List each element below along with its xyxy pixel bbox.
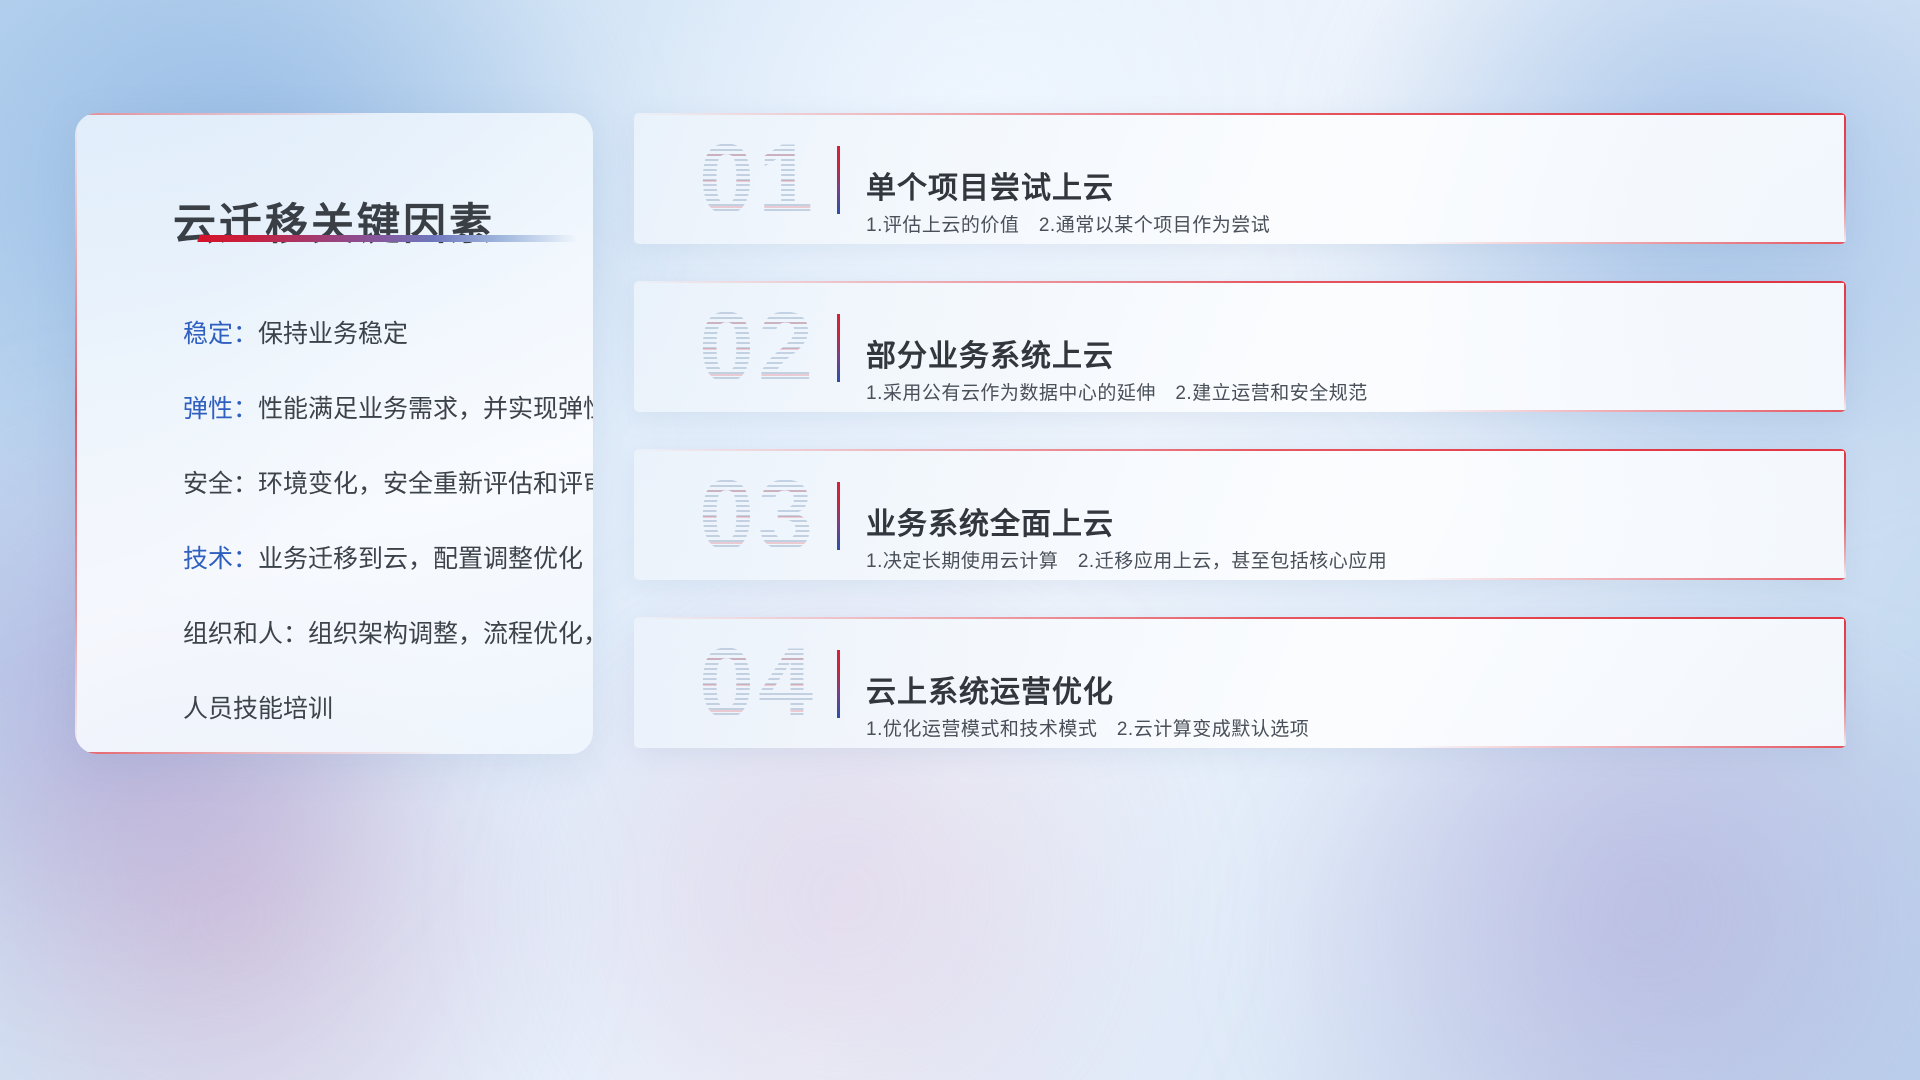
list-item: 稳定：保持业务稳定 — [183, 322, 569, 347]
card-top-accent — [634, 113, 1846, 115]
key-factors-panel: 云迁移关键因素 稳定：保持业务稳定 弹性：性能满足业务需求，并实现弹性 安全：环… — [75, 113, 593, 754]
card-top-accent — [634, 449, 1846, 451]
factor-value: 人员技能培训 — [183, 695, 333, 723]
card-divider-bar — [837, 146, 840, 214]
card-divider-bar — [837, 650, 840, 718]
panel-top-accent-line — [75, 113, 438, 115]
card-title: 云上系统运营优化 — [866, 667, 1114, 711]
factor-label: 安全： — [183, 470, 258, 498]
card-top-accent — [634, 281, 1846, 283]
stage-card-01[interactable]: 01 01 单个项目尝试上云 1.评估上云的价值 2.通常以某个项目作为尝试 — [634, 113, 1846, 244]
list-item-continuation: 人员技能培训 — [183, 697, 569, 722]
card-title: 业务系统全面上云 — [866, 499, 1114, 543]
card-description: 1.采用公有云作为数据中心的延伸 2.建立运营和安全规范 — [866, 378, 1368, 405]
factor-value: 组织架构调整，流程优化， — [308, 620, 593, 648]
card-bottom-accent — [1410, 242, 1846, 244]
list-item: 技术：业务迁移到云，配置调整优化 — [183, 547, 569, 572]
factor-value: 性能满足业务需求，并实现弹性 — [258, 395, 593, 423]
title-underline-gradient — [197, 235, 577, 242]
card-bottom-accent — [1410, 578, 1846, 580]
card-right-accent — [1844, 449, 1846, 580]
list-item: 安全：环境变化，安全重新评估和评审 — [183, 472, 569, 497]
stage-card-02[interactable]: 02 02 部分业务系统上云 1.采用公有云作为数据中心的延伸 2.建立运营和安… — [634, 281, 1846, 412]
card-number-watermark-tint: 04 — [658, 623, 858, 743]
card-right-accent — [1844, 281, 1846, 412]
card-divider-bar — [837, 482, 840, 550]
card-right-accent — [1844, 617, 1846, 748]
card-divider-bar — [837, 314, 840, 382]
card-number-watermark-tint: 01 — [658, 119, 858, 239]
slide-stage: 云迁移关键因素 稳定：保持业务稳定 弹性：性能满足业务需求，并实现弹性 安全：环… — [0, 0, 1920, 1080]
factor-list: 稳定：保持业务稳定 弹性：性能满足业务需求，并实现弹性 安全：环境变化，安全重新… — [183, 322, 569, 722]
card-description: 1.评估上云的价值 2.通常以某个项目作为尝试 — [866, 210, 1270, 237]
factor-label: 技术： — [183, 545, 258, 573]
factor-label: 弹性： — [183, 395, 258, 423]
factor-value: 保持业务稳定 — [258, 320, 408, 348]
list-item: 弹性：性能满足业务需求，并实现弹性 — [183, 397, 569, 422]
card-number-watermark-tint: 03 — [658, 455, 858, 575]
factor-value: 环境变化，安全重新评估和评审 — [258, 470, 593, 498]
stage-card-03[interactable]: 03 03 业务系统全面上云 1.决定长期使用云计算 2.迁移应用上云，甚至包括… — [634, 449, 1846, 580]
factor-label: 组织和人： — [183, 620, 308, 648]
stage-card-04[interactable]: 04 04 云上系统运营优化 1.优化运营模式和技术模式 2.云计算变成默认选项 — [634, 617, 1846, 748]
card-bottom-accent — [1410, 410, 1846, 412]
factor-label: 稳定： — [183, 320, 258, 348]
card-bottom-accent — [1410, 746, 1846, 748]
card-top-accent — [634, 617, 1846, 619]
card-description: 1.决定长期使用云计算 2.迁移应用上云，甚至包括核心应用 — [866, 546, 1387, 573]
page-title: 云迁移关键因素 — [75, 190, 593, 252]
list-item: 组织和人：组织架构调整，流程优化， — [183, 622, 569, 647]
card-title: 单个项目尝试上云 — [866, 163, 1114, 207]
factor-value: 业务迁移到云，配置调整优化 — [258, 545, 583, 573]
card-number-watermark-tint: 02 — [658, 287, 858, 407]
card-title: 部分业务系统上云 — [866, 331, 1114, 375]
stage-card-list: 01 01 单个项目尝试上云 1.评估上云的价值 2.通常以某个项目作为尝试 0… — [634, 113, 1846, 748]
card-right-accent — [1844, 113, 1846, 244]
card-description: 1.优化运营模式和技术模式 2.云计算变成默认选项 — [866, 714, 1309, 741]
